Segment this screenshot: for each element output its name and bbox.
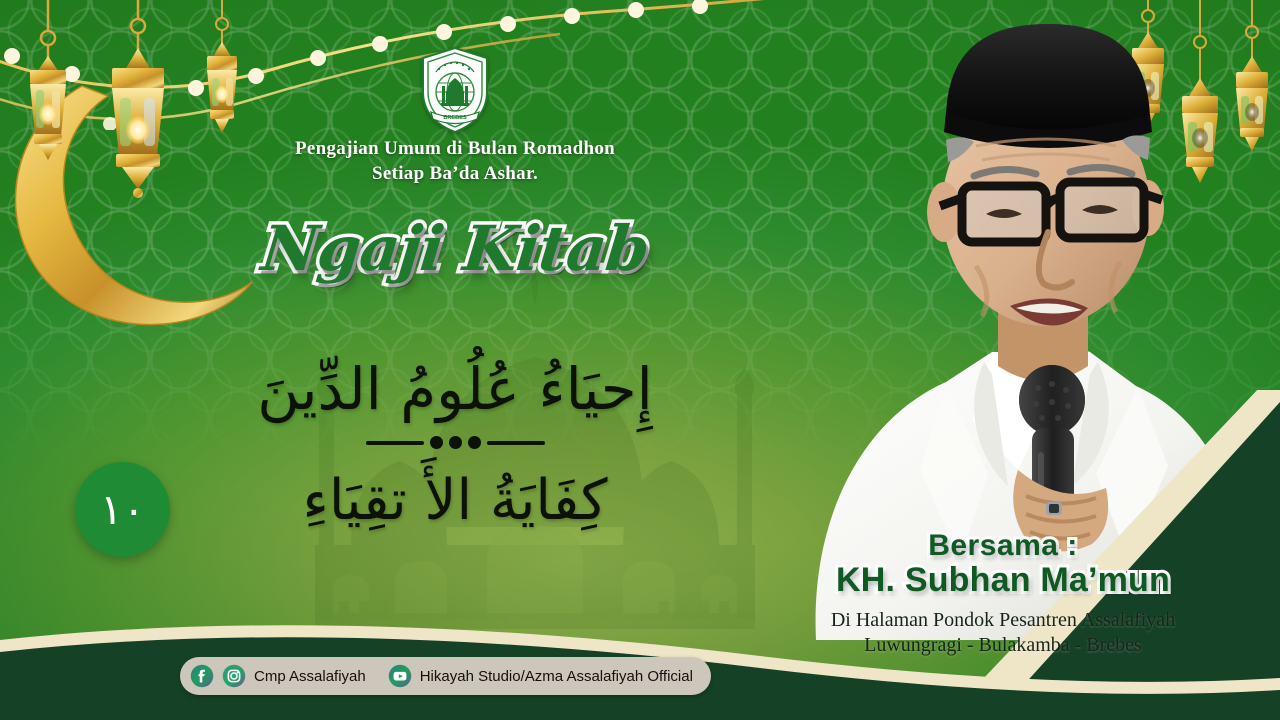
ornamental-divider (0, 436, 910, 449)
event-tagline: Pengajian Umum di Bulan Romadhon Setiap … (0, 136, 910, 186)
poster-canvas: BREBES Pengajian Umum di Bulan Romadhon … (0, 0, 1280, 720)
divider-dot (430, 436, 443, 449)
speaker-info: Bersama : KH. Subhan Ma’mun Di Halaman P… (768, 530, 1238, 658)
episode-number-badge: ١٠ (75, 462, 170, 557)
social-handles-bar: Cmp Assalafiyah Hikayah Studio/Azma Assa… (180, 657, 711, 695)
venue-line-1: Di Halaman Pondok Pesantren Assalafiyah (768, 608, 1238, 633)
program-title-text: Ngaji Kitab (259, 218, 652, 280)
venue-info: Di Halaman Pondok Pesantren Assalafiyah … (768, 608, 1238, 658)
social-handle-secondary: Hikayah Studio/Azma Assalafiyah Official (420, 668, 693, 685)
speaker-prefix: Bersama : (768, 530, 1238, 562)
kitab-title-line-1: إِحيَاءُ عُلُومُ الدِّينَ (0, 350, 910, 428)
organization-emblem-logo: BREBES (419, 46, 491, 134)
divider-bar-left (366, 441, 424, 445)
instagram-icon[interactable] (222, 664, 246, 688)
program-title: Ngaji Kitab (0, 218, 910, 280)
tagline-line-1: Pengajian Umum di Bulan Romadhon (0, 136, 910, 161)
divider-dot (449, 436, 462, 449)
episode-number-text: ١٠ (100, 489, 145, 531)
youtube-icon[interactable] (388, 664, 412, 688)
divider-dot (468, 436, 481, 449)
divider-bar-right (487, 441, 545, 445)
facebook-icon[interactable] (190, 664, 214, 688)
tagline-line-2: Setiap Ba’da Ashar. (0, 161, 910, 186)
emblem-caption: BREBES (443, 115, 467, 121)
social-handle-primary: Cmp Assalafiyah (254, 668, 366, 685)
venue-line-2: Luwungragi - Bulakamba - Brebes (768, 633, 1238, 658)
speaker-name: KH. Subhan Ma’mun (768, 563, 1238, 599)
